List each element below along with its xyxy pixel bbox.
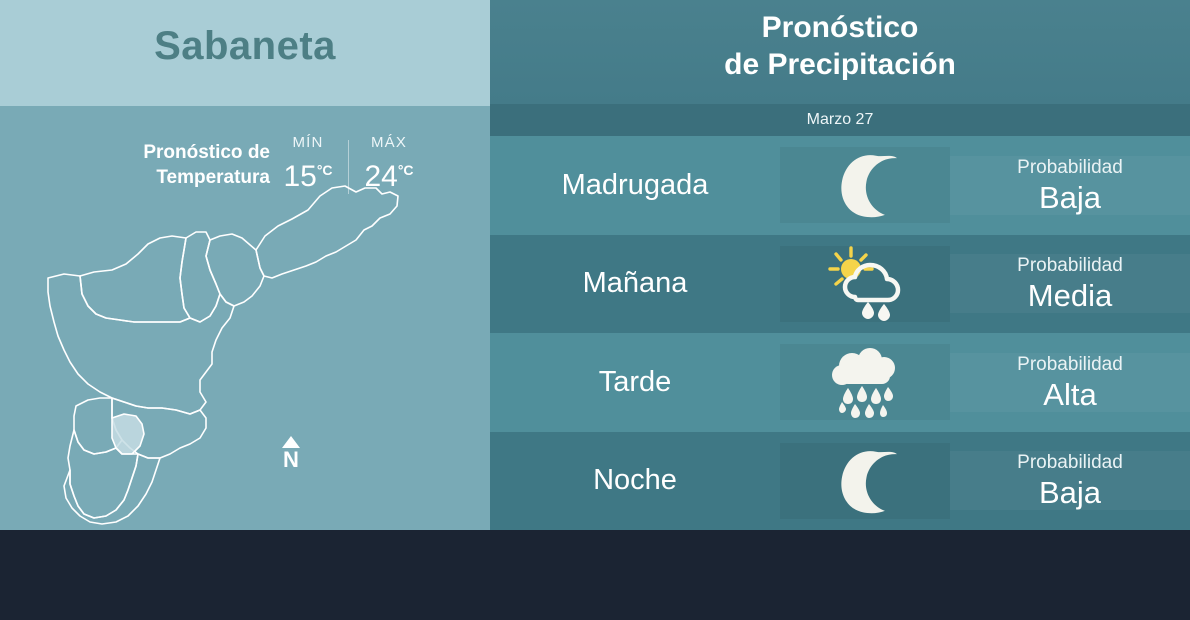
probability-value: Baja — [950, 475, 1190, 510]
probability-label: Probabilidad — [950, 451, 1190, 475]
probability-label: Probabilidad — [950, 156, 1190, 180]
moon-glyph — [822, 147, 908, 223]
forecast-rows: Madrugada Probabilidad Baja Mañana — [490, 136, 1190, 530]
probability-value: Alta — [950, 377, 1190, 412]
table-row[interactable]: Mañana — [490, 235, 1190, 334]
probability-cell: Probabilidad Baja — [950, 451, 1190, 510]
map-band: Pronóstico de Temperatura MÍN 15°C MÁX 2… — [0, 106, 490, 530]
probability-cell: Probabilidad Media — [950, 254, 1190, 313]
moon-icon — [780, 443, 950, 519]
period-label: Noche — [490, 464, 780, 497]
table-row[interactable]: Madrugada Probabilidad Baja — [490, 136, 1190, 235]
sun-cloud-rain-glyph — [822, 246, 908, 322]
period-label: Tarde — [490, 366, 780, 399]
right-panel: Pronóstico de Precipitación Marzo 27 Mad… — [490, 0, 1190, 530]
period-label: Mañana — [490, 267, 780, 300]
probability-value: Baja — [950, 180, 1190, 215]
probability-label: Probabilidad — [950, 353, 1190, 377]
probability-label: Probabilidad — [950, 254, 1190, 278]
temperature-title-line1: Pronóstico de — [143, 142, 270, 163]
precipitation-title-line2: de Precipitación — [724, 48, 956, 81]
table-row[interactable]: Noche Probabilidad Baja — [490, 432, 1190, 531]
temperature-max-label: MÁX — [353, 134, 425, 151]
north-label: N — [275, 449, 307, 471]
probability-value: Media — [950, 278, 1190, 313]
cloud-heavy-rain-glyph — [822, 344, 908, 420]
aburra-valley-map — [20, 166, 440, 526]
forecast-date: Marzo 27 — [490, 104, 1190, 136]
page-title: Sabaneta — [0, 24, 490, 69]
cloud-heavy-rain-icon — [780, 344, 950, 420]
moon-glyph — [822, 443, 908, 519]
left-panel: Sabaneta Pronóstico de Temperatura MÍN 1… — [0, 0, 490, 530]
period-label: Madrugada — [490, 169, 780, 202]
precipitation-title: Pronóstico de Precipitación — [490, 9, 1190, 83]
probability-cell: Probabilidad Baja — [950, 156, 1190, 215]
north-arrow-icon: N — [275, 436, 307, 471]
footer: Con el apoyo de: Un proyecto de: SIATA — [0, 530, 1190, 620]
weather-forecast-card: Sabaneta Pronóstico de Temperatura MÍN 1… — [0, 0, 1190, 620]
table-row[interactable]: Tarde — [490, 333, 1190, 432]
temperature-min-label: MÍN — [272, 134, 344, 151]
moon-icon — [780, 147, 950, 223]
sun-cloud-rain-icon — [780, 246, 950, 322]
precipitation-title-line1: Pronóstico — [762, 11, 919, 44]
probability-cell: Probabilidad Alta — [950, 353, 1190, 412]
